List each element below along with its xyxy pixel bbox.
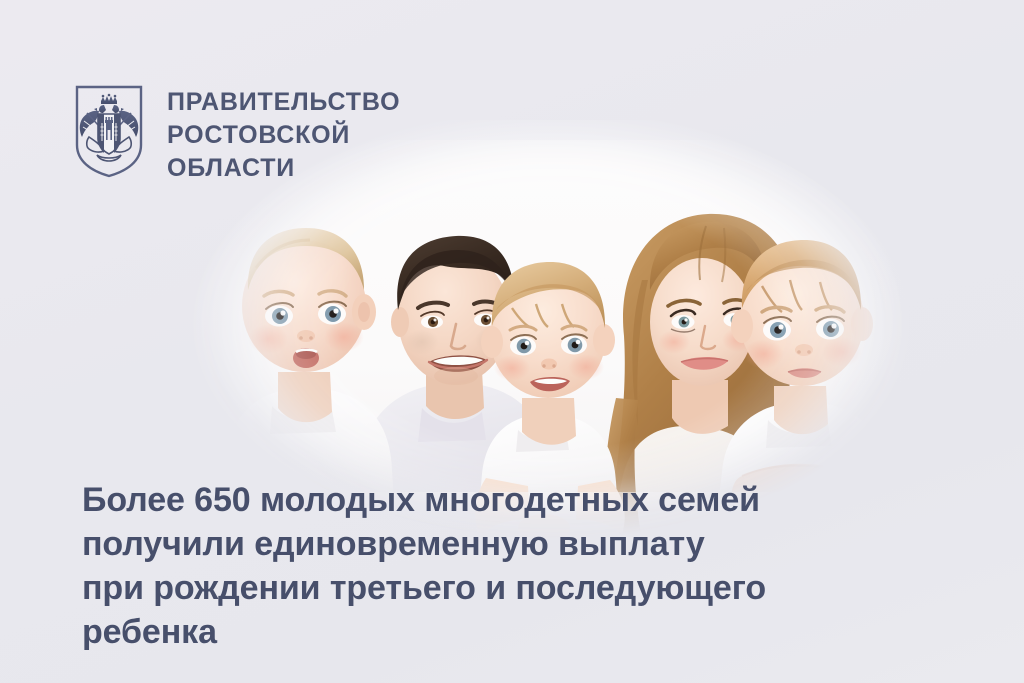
headline-line-1: Более 650 молодых многодетных семей — [82, 478, 766, 522]
headline-line-4: ребенка — [82, 610, 766, 654]
government-logo-text: ПРАВИТЕЛЬСТВО РОСТОВСКОЙ ОБЛАСТИ — [167, 83, 400, 185]
logo-line-1: ПРАВИТЕЛЬСТВО — [167, 86, 400, 119]
logo-line-3: ОБЛАСТИ — [167, 152, 400, 185]
headline-line-3: при рождении третьего и последующего — [82, 566, 766, 610]
announcement-poster: ПРАВИТЕЛЬСТВО РОСТОВСКОЙ ОБЛАСТИ Более 6… — [0, 0, 1024, 683]
headline: Более 650 молодых многодетных семей полу… — [82, 478, 766, 654]
government-logo: ПРАВИТЕЛЬСТВО РОСТОВСКОЙ ОБЛАСТИ — [73, 83, 400, 185]
rostov-oblast-coat-of-arms-icon — [73, 83, 145, 179]
logo-line-2: РОСТОВСКОЙ — [167, 119, 400, 152]
headline-line-2: получили единовременную выплату — [82, 522, 766, 566]
